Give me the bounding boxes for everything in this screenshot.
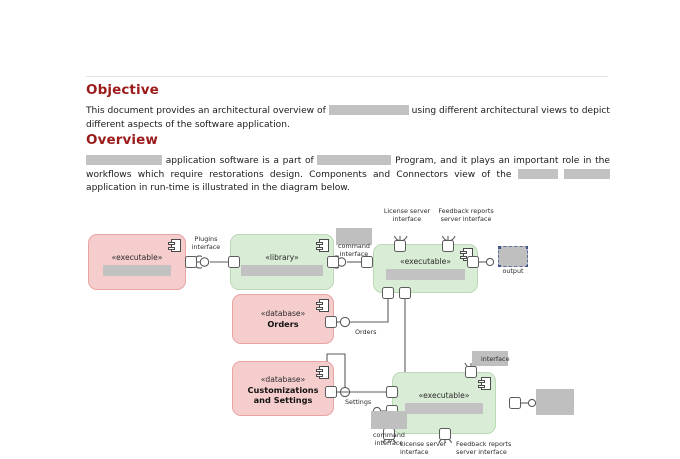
overview-paragraph: application software is a part of Progra… xyxy=(86,155,610,196)
redacted-component-name xyxy=(405,403,483,414)
objective-text-pre: This document provides an architectural … xyxy=(86,106,329,116)
port-c6-right[interactable] xyxy=(509,397,521,409)
label-feedback-reports-interface-bottom: Feedback reports server interface xyxy=(456,441,511,456)
component-stereotype: «executable» xyxy=(89,253,185,262)
redacted-component-name xyxy=(241,265,323,276)
port-c3-orders[interactable] xyxy=(382,287,394,299)
overview-text-c: application in run-time is illustrated i… xyxy=(86,183,350,193)
label-orders: Orders xyxy=(355,329,377,337)
uml-component-icon xyxy=(478,377,491,390)
label-interface-bottom: interface xyxy=(481,356,510,364)
port-settings-provided[interactable] xyxy=(325,386,337,398)
port-c3-output[interactable] xyxy=(467,256,479,268)
component-stereotype: «library» xyxy=(231,253,333,262)
objective-heading: Objective xyxy=(86,82,610,98)
redacted-artifact-bottom-right xyxy=(536,389,574,415)
overview-text-a: application software is a part of xyxy=(162,156,317,166)
redacted-program-name xyxy=(317,155,391,165)
redacted-component-name xyxy=(386,269,465,280)
redacted-label-command-bottom xyxy=(371,411,407,429)
objective-paragraph: This document provides an architectural … xyxy=(86,105,610,132)
output-artifact-box[interactable] xyxy=(498,246,528,267)
component-stereotype: «executable» xyxy=(393,391,495,400)
port-c3-settings[interactable] xyxy=(399,287,411,299)
overview-heading: Overview xyxy=(86,132,610,148)
label-settings: Settings xyxy=(345,399,371,407)
component-name: Customizations and Settings xyxy=(233,385,333,405)
uml-component-icon xyxy=(316,239,329,252)
label-plugins-interface: Plugins interface xyxy=(189,236,223,251)
redacted-product-name-1 xyxy=(329,105,409,115)
component-database-customizations[interactable]: «database» Customizations and Settings xyxy=(232,361,334,416)
document-body: Objective This document provides an arch… xyxy=(86,82,610,196)
label-command-interface-top: command interface xyxy=(336,243,372,258)
uml-component-icon xyxy=(168,239,181,252)
port-c3-feedback-reports[interactable] xyxy=(442,240,454,252)
uml-component-icon xyxy=(316,299,329,312)
component-database-orders[interactable]: «database» Orders xyxy=(232,294,334,344)
component-executable-3[interactable]: «executable» xyxy=(392,372,496,434)
redacted-component-name xyxy=(103,265,171,276)
port-c6-interface[interactable] xyxy=(465,366,477,378)
redacted-product-name-4 xyxy=(564,169,610,179)
port-c1-plugins[interactable] xyxy=(185,256,197,268)
port-c6-feedback-reports[interactable] xyxy=(439,428,451,440)
uml-component-icon xyxy=(316,366,329,379)
port-orders-provided[interactable] xyxy=(325,316,337,328)
port-c3-license-server[interactable] xyxy=(394,240,406,252)
component-executable-2[interactable]: «executable» xyxy=(373,244,478,293)
port-c2-left[interactable] xyxy=(228,256,240,268)
redacted-product-name-2 xyxy=(86,155,162,165)
component-executable-1[interactable]: «executable» xyxy=(88,234,186,290)
architecture-diagram: «executable» «library» «executable» «da xyxy=(0,196,680,459)
document-page: Objective This document provides an arch… xyxy=(0,0,680,459)
component-library[interactable]: «library» xyxy=(230,234,334,290)
header-divider xyxy=(86,76,608,77)
label-output: output xyxy=(498,268,528,276)
label-feedback-reports-interface-top: Feedback reports server interface xyxy=(430,208,502,223)
port-c6-settings[interactable] xyxy=(386,386,398,398)
redacted-product-name-3 xyxy=(518,169,558,179)
component-name: Orders xyxy=(233,319,333,329)
label-license-server-interface-bottom: License server interface xyxy=(400,441,446,456)
